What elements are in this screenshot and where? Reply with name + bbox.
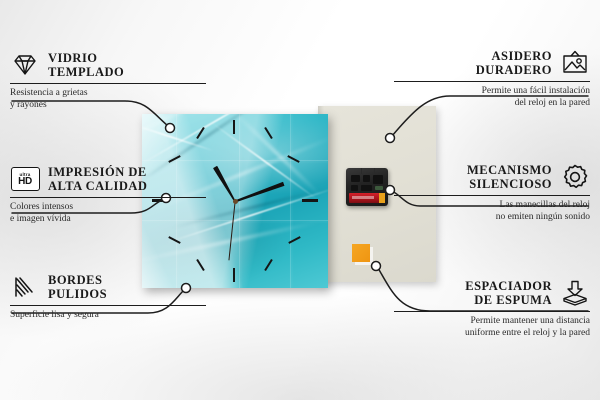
feature-divider xyxy=(394,81,590,82)
feature-description: Permite mantener una distancia uniforme … xyxy=(394,316,590,339)
tick-7 xyxy=(196,259,205,271)
feather-streak xyxy=(142,114,312,142)
polished-edges-icon xyxy=(10,272,40,302)
infographic-stage: VIDRIO TEMPLADO Resistencia a grietas y … xyxy=(0,0,600,400)
feature-asidero-duradero: ASIDERO DURADERO Permite una fácil insta… xyxy=(394,48,590,109)
feature-description: Colores intensos e imagen vívida xyxy=(10,202,206,225)
feature-description: Las manecillas del reloj no emiten ningú… xyxy=(394,200,590,223)
foam-spacer-sample xyxy=(352,244,370,262)
feature-description: Permite una fácil instalación del reloj … xyxy=(394,86,590,109)
feature-title: IMPRESIÓN DE ALTA CALIDAD xyxy=(48,165,206,193)
clock-hand-cap xyxy=(233,199,238,204)
gear-icon xyxy=(560,162,590,192)
movement-vent xyxy=(351,185,358,191)
feature-header: VIDRIO TEMPLADO xyxy=(10,50,206,80)
feature-title: MECANISMO SILENCIOSO xyxy=(394,163,552,191)
hd-badge-big-text: HD xyxy=(18,177,32,187)
movement-vent xyxy=(373,175,383,184)
feature-title: VIDRIO TEMPLADO xyxy=(48,51,206,79)
feature-header: ESPACIADOR DE ESPUMA xyxy=(394,278,590,308)
tick-5 xyxy=(264,259,273,271)
feature-espaciador-espuma: ESPACIADOR DE ESPUMA Permite mantener un… xyxy=(394,278,590,339)
feature-title: ESPACIADOR DE ESPUMA xyxy=(394,279,552,307)
tick-6 xyxy=(233,268,235,282)
movement-vent xyxy=(363,175,370,182)
feature-divider xyxy=(10,305,206,306)
ultra-hd-badge-icon: ultra HD xyxy=(10,164,40,194)
feature-title: BORDES PULIDOS xyxy=(48,273,206,301)
feature-divider xyxy=(10,197,206,198)
diamond-icon xyxy=(10,50,40,80)
clock-movement-module xyxy=(346,168,388,206)
feature-header: ASIDERO DURADERO xyxy=(394,48,590,78)
feature-vidrio-templado: VIDRIO TEMPLADO Resistencia a grietas y … xyxy=(10,50,206,111)
feature-divider xyxy=(394,311,590,312)
feature-title: ASIDERO DURADERO xyxy=(394,49,552,77)
tick-1 xyxy=(264,127,273,139)
tick-12 xyxy=(233,120,235,134)
feature-mecanismo-silencioso: MECANISMO SILENCIOSO Las manecillas del … xyxy=(394,162,590,223)
battery-label xyxy=(352,196,374,199)
feature-bordes-pulidos: BORDES PULIDOS Superficie lisa y segura xyxy=(10,272,206,322)
movement-vent xyxy=(351,175,360,182)
feature-header: ultra HD IMPRESIÓN DE ALTA CALIDAD xyxy=(10,164,206,194)
feature-description: Superficie lisa y segura xyxy=(10,310,206,322)
battery-terminal xyxy=(379,193,385,203)
clock-battery xyxy=(349,193,385,203)
feature-divider xyxy=(394,195,590,196)
tick-3 xyxy=(302,199,318,202)
movement-vent xyxy=(361,185,372,191)
feature-header: MECANISMO SILENCIOSO xyxy=(394,162,590,192)
feature-description: Resistencia a grietas y rayones xyxy=(10,88,206,111)
feature-impresion-alta-calidad: ultra HD IMPRESIÓN DE ALTA CALIDAD Color… xyxy=(10,164,206,225)
movement-pcb xyxy=(375,186,383,190)
hanging-frame-icon xyxy=(560,48,590,78)
feature-header: BORDES PULIDOS xyxy=(10,272,206,302)
foam-spacer-arrow-icon xyxy=(560,278,590,308)
feature-divider xyxy=(10,83,206,84)
movement-hanger-icon xyxy=(361,168,375,174)
